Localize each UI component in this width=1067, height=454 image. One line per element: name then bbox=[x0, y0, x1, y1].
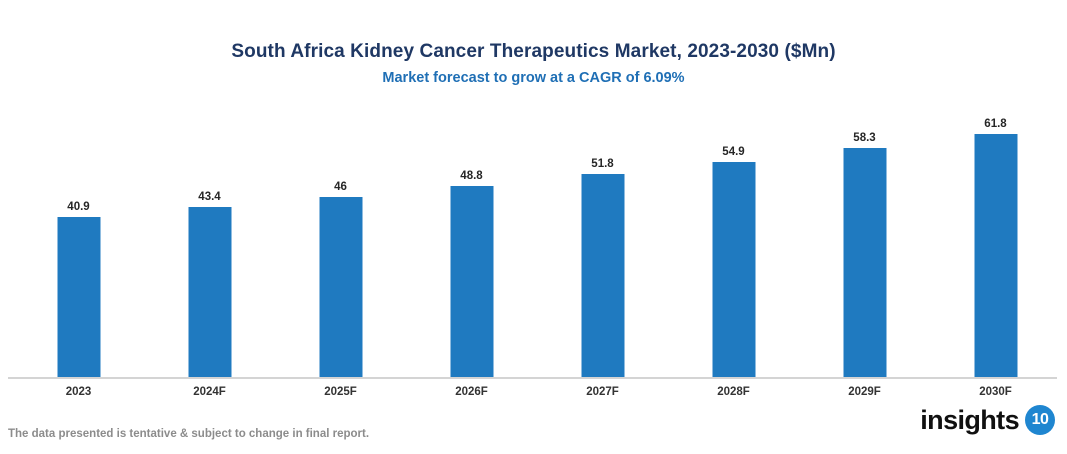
bar[interactable] bbox=[843, 148, 886, 378]
bar-value-label: 40.9 bbox=[67, 201, 89, 214]
bar-value-label: 61.8 bbox=[984, 118, 1006, 131]
bar-group: 48.8 bbox=[406, 110, 537, 378]
bar[interactable] bbox=[57, 217, 100, 378]
insights10-logo: insights 10 bbox=[920, 405, 1055, 435]
bar[interactable] bbox=[188, 207, 231, 378]
category-label: 2029F bbox=[799, 385, 930, 399]
bar-group: 54.9 bbox=[668, 110, 799, 378]
bar[interactable] bbox=[319, 197, 362, 378]
bar-value-label: 43.4 bbox=[198, 191, 220, 204]
category-label: 2023 bbox=[13, 385, 144, 399]
bar-value-label: 58.3 bbox=[853, 132, 875, 145]
bar-group: 43.4 bbox=[144, 110, 275, 378]
bar-value-label: 51.8 bbox=[591, 158, 613, 171]
category-label: 2025F bbox=[275, 385, 406, 399]
bar[interactable] bbox=[581, 174, 624, 378]
logo-wordmark: insights bbox=[920, 405, 1019, 435]
category-label: 2027F bbox=[537, 385, 668, 399]
category-label: 2028F bbox=[668, 385, 799, 399]
disclaimer-text: The data presented is tentative & subjec… bbox=[8, 427, 369, 442]
category-axis-labels: 20232024F2025F2026F2027F2028F2029F2030F bbox=[8, 381, 1057, 403]
logo-badge-icon: 10 bbox=[1025, 405, 1055, 435]
bar[interactable] bbox=[450, 186, 493, 378]
chart-subtitle: Market forecast to grow at a CAGR of 6.0… bbox=[0, 68, 1067, 88]
bar[interactable] bbox=[974, 134, 1017, 378]
category-label: 2024F bbox=[144, 385, 275, 399]
bar[interactable] bbox=[712, 162, 755, 378]
category-label: 2026F bbox=[406, 385, 537, 399]
bar-value-label: 54.9 bbox=[722, 146, 744, 159]
bar-group: 40.9 bbox=[13, 110, 144, 378]
title-block: South Africa Kidney Cancer Therapeutics … bbox=[0, 40, 1067, 88]
bar-group: 46 bbox=[275, 110, 406, 378]
bar-group: 58.3 bbox=[799, 110, 930, 378]
plot-area: 40.943.44648.851.854.958.361.8 bbox=[8, 110, 1057, 378]
chart-title: South Africa Kidney Cancer Therapeutics … bbox=[0, 40, 1067, 64]
category-label: 2030F bbox=[930, 385, 1061, 399]
chart-container: South Africa Kidney Cancer Therapeutics … bbox=[0, 0, 1067, 454]
bar-value-label: 48.8 bbox=[460, 170, 482, 183]
bar-group: 61.8 bbox=[930, 110, 1061, 378]
bar-group: 51.8 bbox=[537, 110, 668, 378]
bar-value-label: 46 bbox=[334, 181, 347, 194]
x-axis-line bbox=[8, 377, 1057, 379]
